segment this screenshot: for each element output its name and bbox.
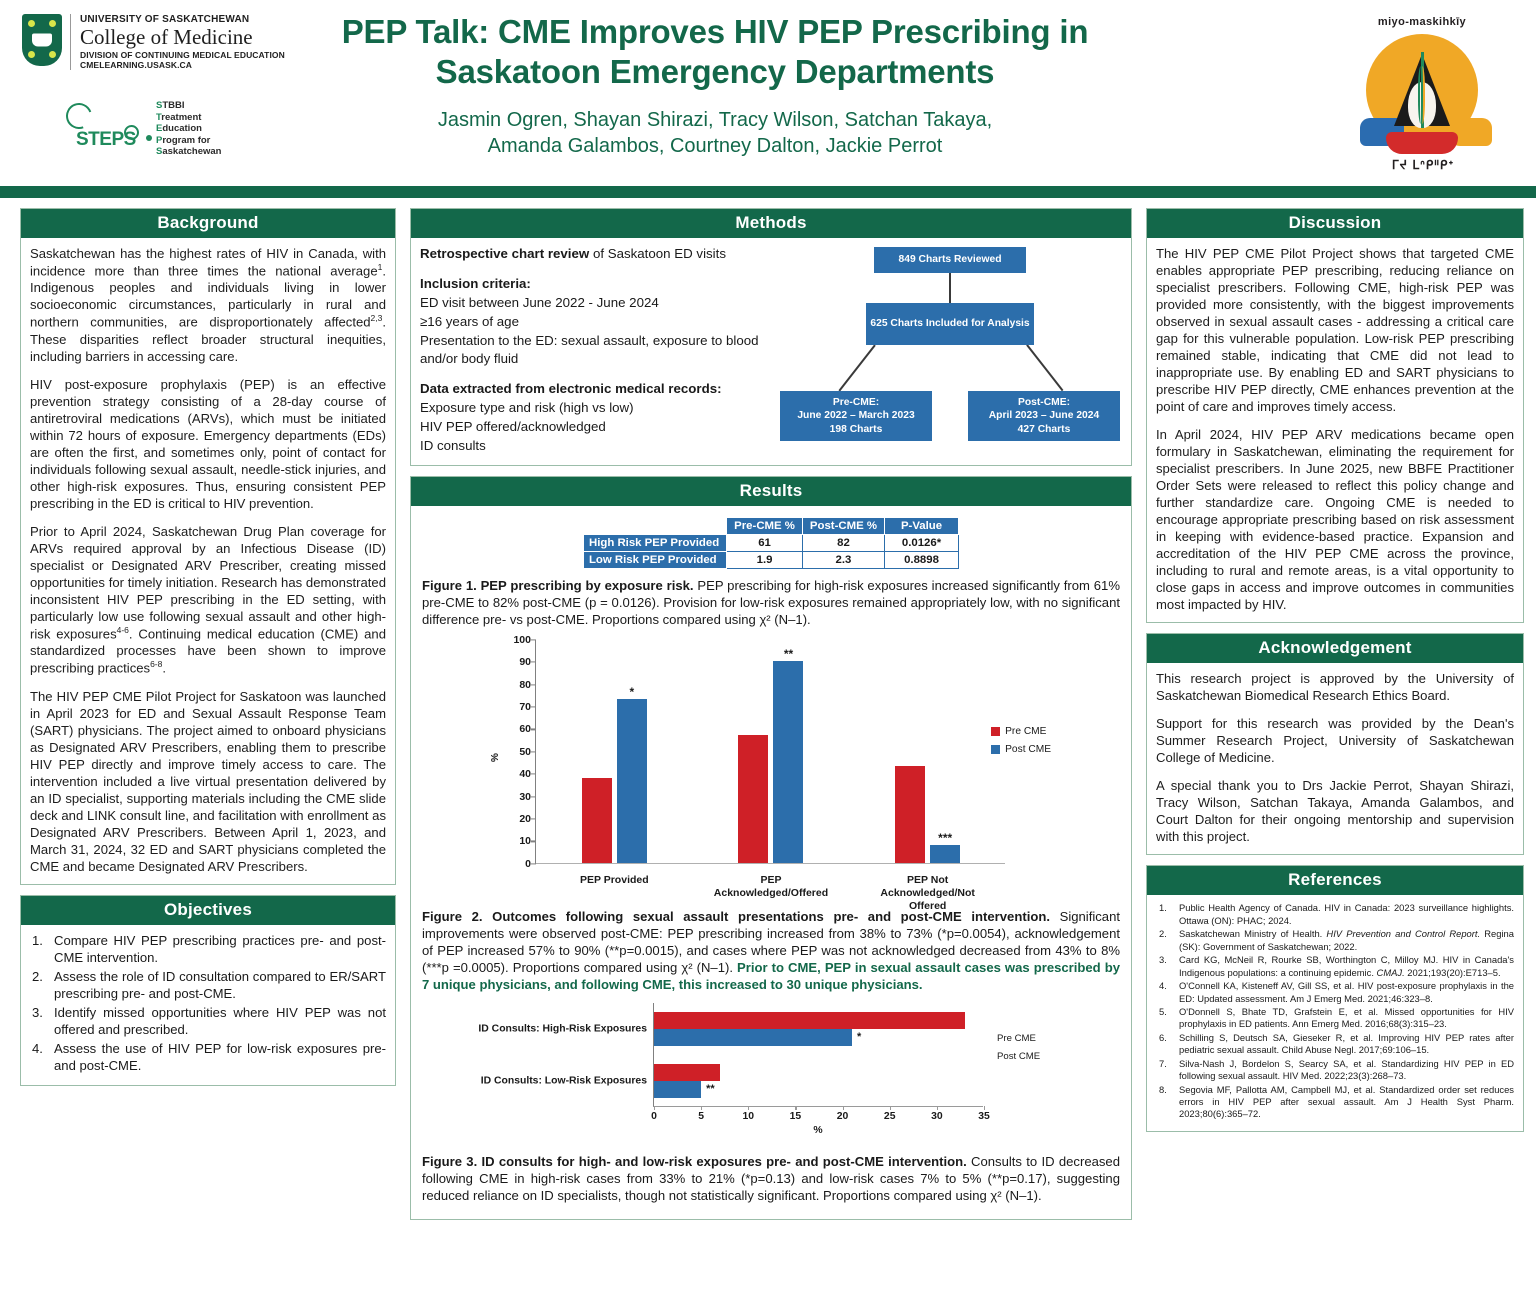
right-column: Discussion The HIV PEP CME Pilot Project… — [1146, 208, 1524, 1306]
acknowledgement-paragraph-3: A special thank you to Drs Jackie Perrot… — [1156, 777, 1514, 845]
reference-item: Schilling S, Deutsch SA, Gieseker R, et … — [1156, 1032, 1514, 1056]
usask-college-of-medicine-logo: UNIVERSITY OF SASKATCHEWAN College of Me… — [22, 14, 285, 70]
mm-red-shape-icon — [1386, 132, 1458, 154]
x-axis-tick-mark — [843, 1106, 844, 1110]
methods-data-line: HIV PEP offered/acknowledged — [420, 418, 768, 437]
bar-post-cme: * — [617, 699, 647, 863]
background-paragraph-1: Saskatchewan has the highest rates of HI… — [30, 245, 386, 365]
x-axis-category-label: PEP Provided — [536, 874, 693, 887]
usask-shield-icon — [22, 14, 62, 66]
bar-group: ** — [693, 640, 850, 863]
flow-connector — [1026, 345, 1063, 392]
figure-3-legend: Pre CME Post CME — [997, 1033, 1040, 1069]
figure-3-caption: Figure 3. ID consults for high- and low-… — [422, 1153, 1120, 1204]
significance-marker: * — [857, 1031, 861, 1043]
x-axis-tick-mark — [984, 1106, 985, 1110]
acknowledgement-paragraph-1: This research project is approved by the… — [1156, 670, 1514, 704]
flow-node-charts-included: 625 Charts Included for Analysis — [866, 303, 1034, 345]
x-axis-tick-label: 35 — [978, 1111, 990, 1122]
author-line-2: Amanda Galambos, Courtney Dalton, Jackie… — [270, 133, 1160, 159]
row-label: High Risk PEP Provided — [583, 534, 726, 551]
background-paragraph-3: Prior to April 2024, Saskatchewan Drug P… — [30, 523, 386, 677]
steps-program-logo: STEPS STBBI Treatment Education Program … — [62, 100, 222, 158]
reference-item: Card KG, McNeil R, Rourke SB, Worthingto… — [1156, 954, 1514, 978]
reference-item: Public Health Agency of Canada. HIV in C… — [1156, 902, 1514, 926]
methods-lead: Retrospective chart review of Saskatoon … — [420, 245, 768, 264]
bar-pre-cme — [895, 766, 925, 862]
mm-syllabics-text: ᒥᔪ ᒪᐢᑭᐦᑭᕀ — [1338, 158, 1508, 172]
methods-inclusion-line: ≥16 years of age — [420, 313, 768, 332]
list-item: Assess the role of ID consultation compa… — [30, 968, 386, 1002]
figure-3-x-axis-label: % — [653, 1125, 983, 1136]
legend-label-pre-cme: Pre CME — [997, 1033, 1036, 1044]
miyo-maskihkiy-logo: miyo-maskihkīy ᒥᔪ ᒪᐢᑭᐦᑭᕀ — [1338, 8, 1508, 180]
significance-marker: ** — [784, 648, 793, 660]
y-axis-tick-label: 100 — [513, 634, 531, 646]
bar-pre-cme — [654, 1064, 720, 1081]
x-axis-category-label: PEPAcknowledged/Offered — [693, 874, 850, 900]
table-col-blank — [583, 517, 726, 534]
flow-node-post-cme: Post-CME: April 2023 – June 2024 427 Cha… — [968, 391, 1120, 441]
y-axis-category-label: ID Consults: High-Risk Exposures — [478, 1023, 647, 1034]
y-axis-tick-label: 90 — [519, 656, 531, 668]
reference-item: O'Connell KA, Kisteneff AV, Gill SS, et … — [1156, 980, 1514, 1004]
x-axis-tick-mark — [795, 1106, 796, 1110]
methods-data-heading: Data extracted from electronic medical r… — [420, 380, 768, 399]
methods-inclusion-heading: Inclusion criteria: — [420, 275, 768, 294]
x-axis-tick-label: 10 — [743, 1111, 755, 1122]
list-item: Identify missed opportunities where HIV … — [30, 1004, 386, 1038]
y-axis-tick-label: 70 — [519, 701, 531, 713]
y-axis-tick-label: 20 — [519, 813, 531, 825]
results-table: Pre-CME % Post-CME % P-Value High Risk P… — [583, 517, 959, 569]
x-axis-tick-label: 5 — [698, 1111, 704, 1122]
discussion-paragraph-2: In April 2024, HIV PEP ARV medications b… — [1156, 426, 1514, 613]
bar-post-cme: * — [654, 1029, 852, 1046]
cell-post: 2.3 — [802, 551, 884, 568]
legend-label-pre-cme: Pre CME — [1005, 726, 1046, 737]
y-axis-tick-label: 30 — [519, 791, 531, 803]
y-axis-category-label: ID Consults: Low-Risk Exposures — [481, 1075, 647, 1086]
legend-label-post-cme: Post CME — [997, 1051, 1040, 1062]
reference-item: Saskatchewan Ministry of Health. HIV Pre… — [1156, 928, 1514, 952]
y-axis-tick-label: 80 — [519, 679, 531, 691]
table-col-pvalue: P-Value — [885, 517, 959, 534]
x-axis-tick-label: 25 — [884, 1111, 896, 1122]
x-axis-tick-mark — [937, 1106, 938, 1110]
figure-2-plot-area: 0102030405060708090100*PEP Provided**PEP… — [535, 640, 1005, 864]
cell-pre: 1.9 — [727, 551, 803, 568]
y-axis-tick-label: 50 — [519, 746, 531, 758]
discussion-paragraph-1: The HIV PEP CME Pilot Project shows that… — [1156, 245, 1514, 415]
usask-division-line: DIVISION OF CONTINUING MEDICAL EDUCATION — [80, 50, 285, 60]
flow-connector — [949, 273, 951, 303]
panel-references: References Public Health Agency of Canad… — [1146, 865, 1524, 1132]
flow-node-charts-reviewed: 849 Charts Reviewed — [874, 247, 1026, 273]
bar-pre-cme — [738, 735, 768, 863]
y-axis-tick-label: 60 — [519, 723, 531, 735]
methods-heading: Methods — [411, 209, 1131, 238]
cell-pvalue: 0.0126* — [885, 534, 959, 551]
middle-column: Methods Retrospective chart review of Sa… — [410, 208, 1132, 1306]
acknowledgement-heading: Acknowledgement — [1147, 634, 1523, 663]
cell-pvalue: 0.8898 — [885, 551, 959, 568]
panel-results: Results Pre-CME % Post-CME % P-Value — [410, 476, 1132, 1220]
panel-background: Background Saskatchewan has the highest … — [20, 208, 396, 885]
x-axis-tick-label: 15 — [790, 1111, 802, 1122]
panel-objectives: Objectives Compare HIV PEP prescribing p… — [20, 895, 396, 1086]
table-row: Low Risk PEP Provided 1.9 2.3 0.8898 — [583, 551, 958, 568]
acknowledgement-paragraph-2: Support for this research was provided b… — [1156, 715, 1514, 766]
objectives-heading: Objectives — [21, 896, 395, 925]
legend-label-post-cme: Post CME — [1005, 744, 1051, 755]
panel-acknowledgement: Acknowledgement This research project is… — [1146, 633, 1524, 855]
x-axis-tick-label: 30 — [931, 1111, 943, 1122]
list-item: Compare HIV PEP prescribing practices pr… — [30, 932, 386, 966]
legend-swatch-pre-cme — [991, 727, 1000, 736]
header-divider — [0, 186, 1536, 198]
references-heading: References — [1147, 866, 1523, 895]
methods-data-block: Data extracted from electronic medical r… — [420, 380, 768, 456]
steps-expansion-text: STBBI Treatment Education Program for Sa… — [156, 100, 222, 158]
figure-3-plot-area: 05101520253035*ID Consults: High-Risk Ex… — [653, 1003, 983, 1107]
results-heading: Results — [411, 477, 1131, 506]
x-axis-tick-label: 0 — [651, 1111, 657, 1122]
list-item: Assess the use of HIV PEP for low-risk e… — [30, 1040, 386, 1074]
title-block: PEP Talk: CME Improves HIV PEP Prescribi… — [270, 12, 1160, 159]
x-axis-tick-label: 20 — [837, 1111, 849, 1122]
figure-2-y-axis-label: % — [490, 753, 501, 762]
table-col-pre-cme: Pre-CME % — [727, 517, 803, 534]
panel-discussion: Discussion The HIV PEP CME Pilot Project… — [1146, 208, 1524, 623]
bar-pre-cme — [654, 1012, 965, 1029]
bar-pre-cme — [582, 778, 612, 863]
usask-university-line: UNIVERSITY OF SASKATCHEWAN — [80, 14, 285, 25]
cell-post: 82 — [802, 534, 884, 551]
usask-website-line: CMELEARNING.USASK.CA — [80, 60, 285, 70]
y-axis-tick-label: 40 — [519, 768, 531, 780]
left-column: Background Saskatchewan has the highest … — [20, 208, 396, 1306]
y-axis-tick-mark — [531, 863, 536, 864]
methods-data-line: Exposure type and risk (high vs low) — [420, 399, 768, 418]
figure-1-caption: Figure 1. PEP prescribing by exposure ri… — [422, 577, 1120, 628]
x-axis-category-label: PEP NotAcknowledged/NotOffered — [849, 874, 1006, 913]
methods-data-line: ID consults — [420, 437, 768, 456]
figure-3-chart: 05101520253035*ID Consults: High-Risk Ex… — [441, 999, 1101, 1149]
poster-header: UNIVERSITY OF SASKATCHEWAN College of Me… — [0, 0, 1536, 192]
flow-node-pre-cme: Pre-CME: June 2022 – March 2023 198 Char… — [780, 391, 932, 441]
discussion-heading: Discussion — [1147, 209, 1523, 238]
reference-item: O'Donnell S, Bhate TD, Grafstein E, et a… — [1156, 1006, 1514, 1030]
panel-methods: Methods Retrospective chart review of Sa… — [410, 208, 1132, 466]
methods-inclusion-block: Inclusion criteria: ED visit between Jun… — [420, 275, 768, 369]
background-paragraph-4: The HIV PEP CME Pilot Project for Saskat… — [30, 688, 386, 875]
bar-group: * — [536, 640, 693, 863]
stethoscope-icon: STEPS — [62, 101, 154, 157]
page-title: PEP Talk: CME Improves HIV PEP Prescribi… — [270, 12, 1160, 93]
poster-columns: Background Saskatchewan has the highest … — [0, 202, 1536, 1306]
figure-2-caption: Figure 2. Outcomes following sexual assa… — [422, 908, 1120, 993]
snake-icon — [1418, 66, 1425, 124]
methods-text-block: Retrospective chart review of Saskatoon … — [420, 245, 768, 456]
row-label: Low Risk PEP Provided — [583, 551, 726, 568]
background-heading: Background — [21, 209, 395, 238]
significance-marker: * — [629, 686, 634, 698]
flow-connector — [838, 345, 875, 392]
x-axis-tick-mark — [654, 1106, 655, 1110]
figure-2-legend: Pre CME Post CME — [991, 726, 1051, 762]
reference-item: Segovia MF, Pallotta AM, Campbell MJ, et… — [1156, 1084, 1514, 1121]
bar-post-cme: *** — [930, 845, 960, 863]
significance-marker: ** — [706, 1083, 715, 1095]
methods-inclusion-line: Presentation to the ED: sexual assault, … — [420, 332, 768, 370]
table-header-row: Pre-CME % Post-CME % P-Value — [583, 517, 958, 534]
usask-college-line: College of Medicine — [80, 26, 285, 48]
table-col-post-cme: Post-CME % — [802, 517, 884, 534]
bar-post-cme: ** — [773, 661, 803, 863]
figure-2-chart: % 0102030405060708090100*PEP Provided**P… — [491, 634, 1051, 904]
methods-flowchart: 849 Charts Reviewed 625 Charts Included … — [778, 245, 1126, 455]
references-list: Public Health Agency of Canada. HIV in C… — [1156, 902, 1514, 1120]
steps-wordmark: STEPS — [76, 129, 136, 151]
legend-swatch-post-cme — [991, 745, 1000, 754]
y-axis-tick-label: 10 — [519, 835, 531, 847]
author-line-1: Jasmin Ogren, Shayan Shirazi, Tracy Wils… — [270, 107, 1160, 133]
x-axis-tick-mark — [890, 1106, 891, 1110]
objectives-list: Compare HIV PEP prescribing practices pr… — [30, 932, 386, 1074]
bar-group: *** — [849, 640, 1006, 863]
poster-root: UNIVERSITY OF SASKATCHEWAN College of Me… — [0, 0, 1536, 1306]
x-axis-tick-mark — [701, 1106, 702, 1110]
cell-pre: 61 — [727, 534, 803, 551]
author-list: Jasmin Ogren, Shayan Shirazi, Tracy Wils… — [270, 107, 1160, 160]
table-row: High Risk PEP Provided 61 82 0.0126* — [583, 534, 958, 551]
reference-item: Silva-Nash J, Bordelon S, Searcy SA, et … — [1156, 1058, 1514, 1082]
significance-marker: *** — [938, 832, 952, 844]
bar-post-cme: ** — [654, 1081, 701, 1098]
background-paragraph-2: HIV post-exposure prophylaxis (PEP) is a… — [30, 376, 386, 512]
methods-inclusion-line: ED visit between June 2022 - June 2024 — [420, 294, 768, 313]
x-axis-tick-mark — [748, 1106, 749, 1110]
